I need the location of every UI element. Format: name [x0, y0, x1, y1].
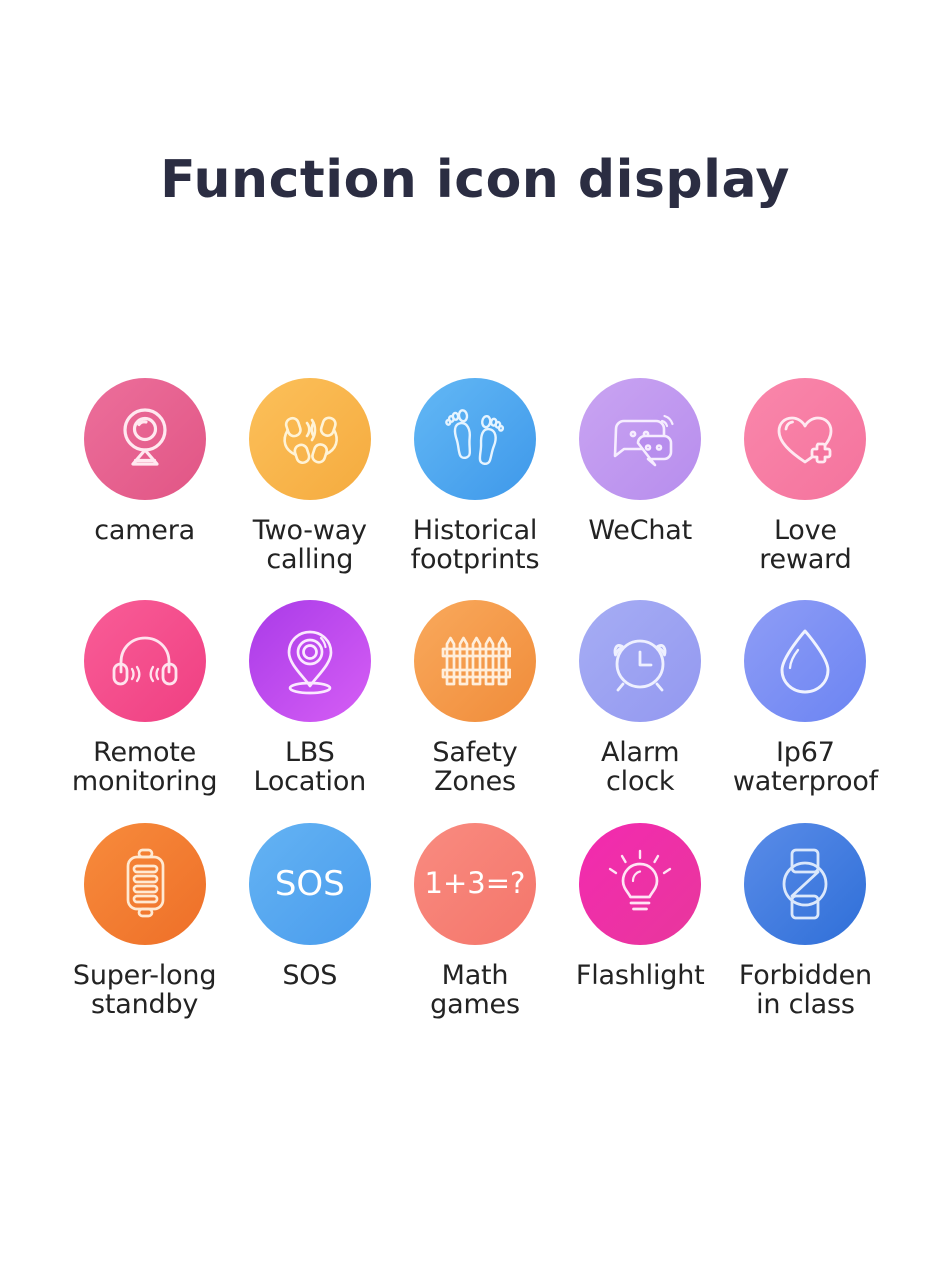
- wechat-badge[interactable]: [579, 378, 701, 500]
- item-label: Ip67 waterproof: [733, 738, 878, 796]
- grid-item-ip67-waterproof[interactable]: Ip67 waterproof: [723, 600, 888, 796]
- grid-item-remote-monitoring[interactable]: Remote monitoring: [62, 600, 227, 796]
- item-label: SOS: [282, 961, 337, 990]
- battery-icon: [114, 846, 176, 922]
- item-label: Forbidden in class: [739, 961, 872, 1019]
- love-reward-badge[interactable]: [744, 378, 866, 500]
- function-icon-display-page: Function icon display camera: [0, 0, 950, 1266]
- item-label: camera: [94, 516, 195, 545]
- page-title: Function icon display: [0, 150, 950, 210]
- footprints-icon: [437, 401, 513, 477]
- grid-item-alarm-clock[interactable]: Alarm clock: [558, 600, 723, 796]
- grid-item-love-reward[interactable]: Love reward: [723, 378, 888, 574]
- light-bulb-icon: [603, 847, 677, 921]
- grid-item-two-way-calling[interactable]: Two-way calling: [227, 378, 392, 574]
- camera-badge[interactable]: [84, 378, 206, 500]
- sos-text-icon: SOS: [275, 867, 345, 901]
- heart-plus-icon: [768, 404, 842, 474]
- math-games-badge[interactable]: 1+3=?: [414, 823, 536, 945]
- remote-monitoring-badge[interactable]: [84, 600, 206, 722]
- ip67-waterproof-badge[interactable]: [744, 600, 866, 722]
- grid-item-flashlight[interactable]: Flashlight: [558, 823, 723, 1019]
- item-label: Love reward: [759, 516, 851, 574]
- item-label: WeChat: [588, 516, 692, 545]
- watch-forbidden-icon: [774, 846, 836, 922]
- math-equation-icon: 1+3=?: [425, 869, 526, 898]
- grid-item-sos[interactable]: SOS SOS: [227, 823, 392, 1019]
- grid-item-camera[interactable]: camera: [62, 378, 227, 574]
- grid-item-lbs-location[interactable]: LBS Location: [227, 600, 392, 796]
- two-way-calling-badge[interactable]: [249, 378, 371, 500]
- item-label: Historical footprints: [411, 516, 540, 574]
- headphones-icon: [107, 628, 183, 694]
- item-label: Alarm clock: [601, 738, 679, 796]
- item-label: Safety Zones: [432, 738, 517, 796]
- safety-zones-badge[interactable]: [414, 600, 536, 722]
- two-way-calling-icon: [272, 401, 348, 477]
- map-pin-icon: [273, 624, 347, 698]
- water-drop-icon: [773, 624, 837, 698]
- item-label: Math games: [430, 961, 520, 1019]
- item-label: Remote monitoring: [72, 738, 217, 796]
- grid-item-forbidden-in-class[interactable]: Forbidden in class: [723, 823, 888, 1019]
- historical-footprints-badge[interactable]: [414, 378, 536, 500]
- wechat-bubbles-icon: [602, 403, 678, 475]
- item-label: Super-long standby: [73, 961, 216, 1019]
- alarm-clock-icon: [603, 624, 677, 698]
- camera-icon: [108, 402, 182, 476]
- flashlight-badge[interactable]: [579, 823, 701, 945]
- lbs-location-badge[interactable]: [249, 600, 371, 722]
- item-label: Two-way calling: [253, 516, 367, 574]
- grid-item-math-games[interactable]: 1+3=? Math games: [392, 823, 557, 1019]
- alarm-clock-badge[interactable]: [579, 600, 701, 722]
- forbidden-in-class-badge[interactable]: [744, 823, 866, 945]
- grid-item-historical-footprints[interactable]: Historical footprints: [392, 378, 557, 574]
- grid-item-super-long-standby[interactable]: Super-long standby: [62, 823, 227, 1019]
- item-label: LBS Location: [253, 738, 366, 796]
- icon-grid: camera: [62, 378, 888, 1019]
- sos-badge[interactable]: SOS: [249, 823, 371, 945]
- super-long-standby-badge[interactable]: [84, 823, 206, 945]
- fence-icon: [439, 625, 511, 697]
- grid-item-safety-zones[interactable]: Safety Zones: [392, 600, 557, 796]
- item-label: Flashlight: [576, 961, 705, 990]
- grid-item-wechat[interactable]: WeChat: [558, 378, 723, 574]
